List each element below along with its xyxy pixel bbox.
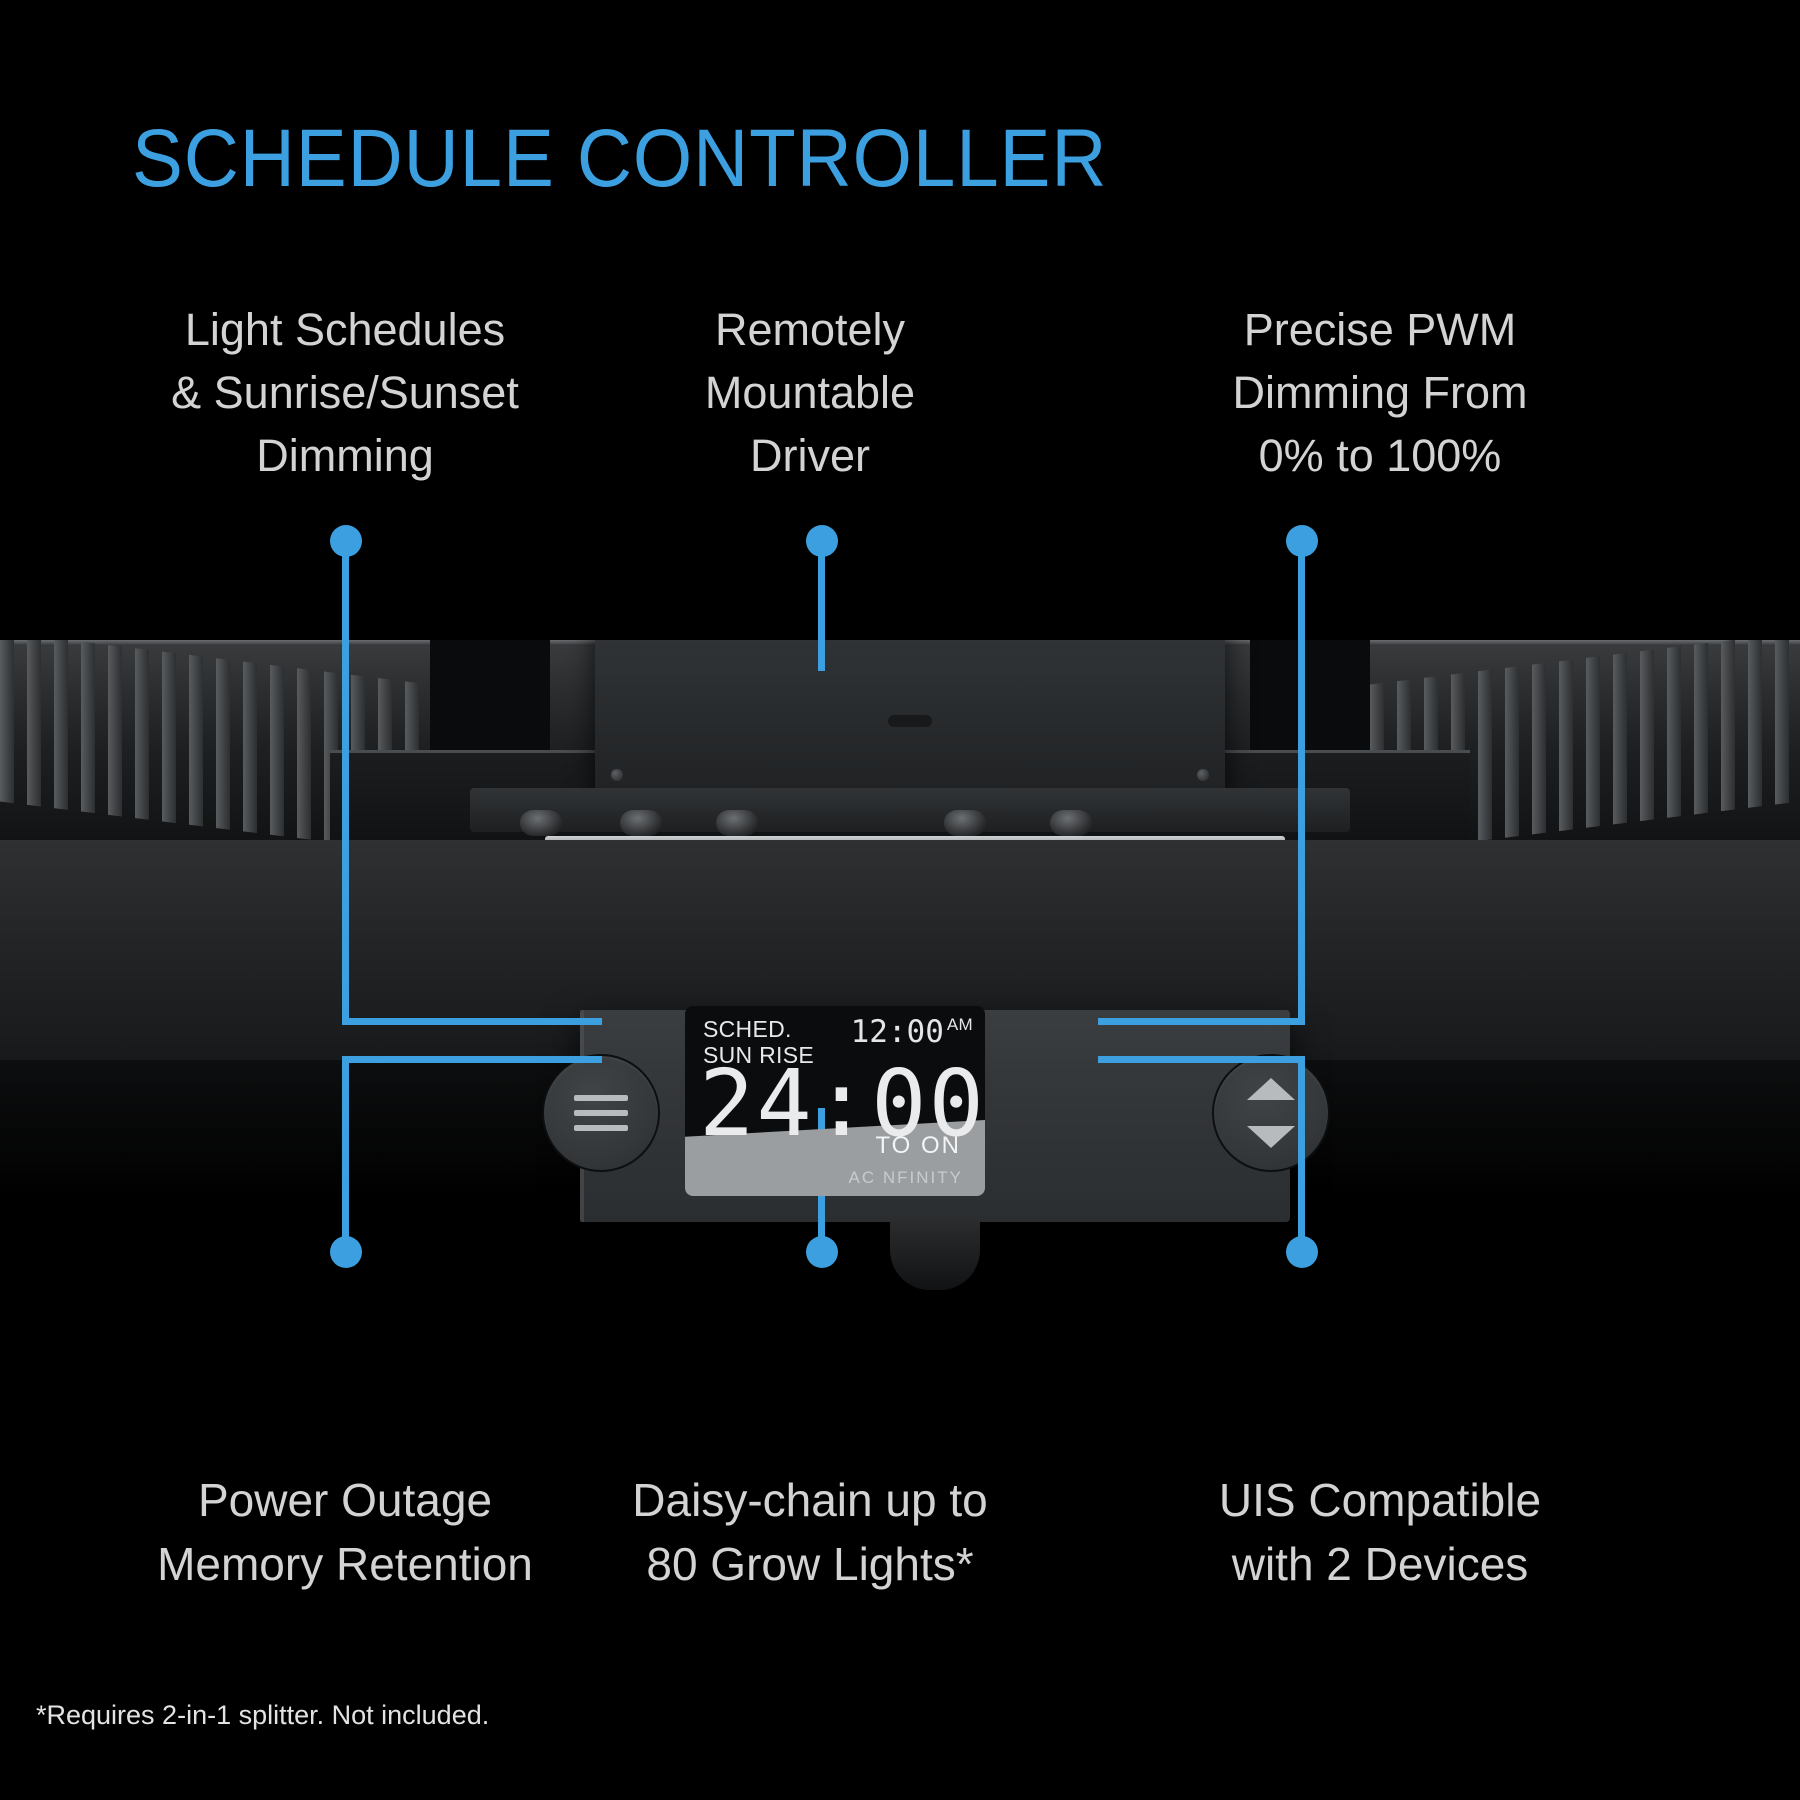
heatsink-fin	[1748, 640, 1762, 808]
lcd-display: SCHED. SUN RISE 12:00 AM 24:00 TO ON AC …	[685, 1006, 985, 1196]
lcd-status: TO ON	[875, 1132, 961, 1160]
callout-line-pwm-dimming-v	[1298, 541, 1305, 1021]
heatsink-fin	[108, 645, 122, 817]
heatsink-fin	[216, 658, 230, 830]
infographic-canvas: SCHEDULE CONTROLLER	[0, 0, 1800, 1800]
heatsink-fin	[1667, 646, 1681, 818]
callout-line-uis-compatible-h	[1098, 1056, 1305, 1063]
hamburger-icon	[574, 1086, 628, 1140]
callout-line-pwm-dimming-h	[1098, 1018, 1305, 1025]
callout-line-uis-compatible-v	[1298, 1056, 1305, 1246]
lcd-clock-meridiem: AM	[947, 1015, 973, 1035]
heatsink-fin	[54, 640, 68, 810]
mount-bar	[470, 788, 1350, 832]
arrow-down-icon	[1247, 1126, 1295, 1148]
schedule-controller: SCHED. SUN RISE 12:00 AM 24:00 TO ON AC …	[580, 1010, 1290, 1222]
feature-label-daisy-chain: Daisy-chain up to 80 Grow Lights*	[570, 1468, 1050, 1596]
mount-bolt	[944, 810, 986, 836]
heatsink-fin	[27, 640, 41, 807]
mount-bolt	[1050, 810, 1092, 836]
mount-bolt	[520, 810, 562, 836]
callout-line-power-outage-h	[342, 1056, 602, 1063]
feature-label-power-outage: Power Outage Memory Retention	[90, 1468, 600, 1596]
arrow-up-icon	[1247, 1078, 1295, 1100]
feature-label-remote-driver: Remotely Mountable Driver	[570, 298, 1050, 487]
heatsink-fin	[270, 665, 284, 837]
driver-slot	[888, 715, 932, 727]
heatsink-fin	[1613, 653, 1627, 825]
heatsink-fin	[81, 642, 95, 814]
cable-port-nub	[890, 1220, 980, 1290]
heatsink-fin	[1532, 663, 1546, 835]
heatsink-fin	[0, 640, 14, 803]
feature-label-pwm-dimming: Precise PWM Dimming From 0% to 100%	[1060, 298, 1700, 487]
callout-line-light-schedules-v	[342, 541, 349, 1021]
mount-bolt	[716, 810, 758, 836]
lcd-clock-time: 12:00	[851, 1014, 944, 1050]
heatsink-fin	[1775, 640, 1789, 805]
heatsink-fin	[189, 655, 203, 827]
driver-screw	[1197, 769, 1209, 781]
lcd-brand: AC NFINITY	[849, 1168, 963, 1188]
heatsink-fin	[162, 651, 176, 823]
callout-line-power-outage-v	[342, 1056, 349, 1246]
driver-box	[595, 640, 1225, 795]
heatsink-fin	[1559, 659, 1573, 831]
heatsink-fin	[243, 661, 257, 833]
heatsink-fin	[1721, 640, 1735, 811]
feature-label-light-schedules: Light Schedules & Sunrise/Sunset Dimming	[90, 298, 600, 487]
heatsink-fin	[1640, 650, 1654, 822]
heatsink-fin	[1505, 666, 1519, 838]
lcd-clock: 12:00 AM	[851, 1014, 973, 1050]
mount-bolt	[620, 810, 662, 836]
heatsink-fin	[1586, 656, 1600, 828]
driver-screw	[611, 769, 623, 781]
menu-button[interactable]	[542, 1054, 660, 1172]
callout-line-remote-driver	[818, 541, 825, 671]
up-down-button[interactable]	[1212, 1054, 1330, 1172]
heatsink-fin	[1694, 643, 1708, 815]
feature-label-uis-compatible: UIS Compatible with 2 Devices	[1060, 1468, 1700, 1596]
callout-line-light-schedules-h	[342, 1018, 602, 1025]
page-title: SCHEDULE CONTROLLER	[132, 118, 1107, 200]
heatsink-fin	[297, 668, 311, 840]
heatsink-fin	[135, 648, 149, 820]
footnote: *Requires 2-in-1 splitter. Not included.	[36, 1700, 489, 1731]
heatsink-fin	[1478, 669, 1492, 841]
